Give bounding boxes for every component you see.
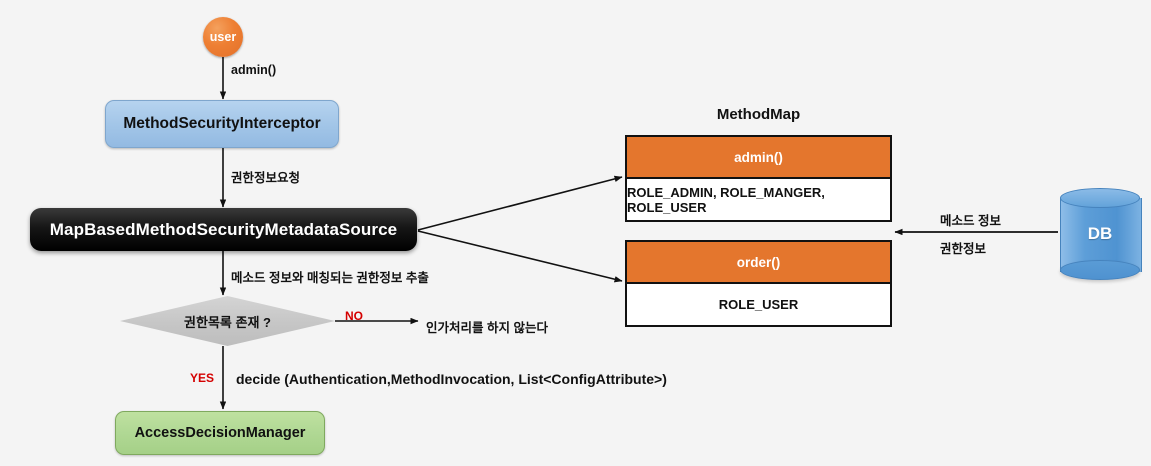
node-method-security-interceptor[interactable]: MethodSecurityInterceptor [105, 100, 339, 148]
edge-label-no: NO [345, 309, 363, 323]
edge-label-admin-call: admin() [231, 63, 276, 77]
method-map-entry-roles: ROLE_USER [627, 284, 890, 325]
actor-user[interactable]: user [203, 17, 243, 57]
method-map-entry-method: admin() [627, 137, 890, 179]
method-map-entry-method: order() [627, 242, 890, 284]
actor-user-label: user [210, 30, 236, 44]
edge-label-authority-request: 권한정보요청 [231, 167, 300, 186]
edge-label-authority-info: 권한정보 [940, 238, 986, 257]
node-decision-label: 권한목록 존재 ? [120, 296, 335, 346]
node-map-based-metadata-source[interactable]: MapBasedMethodSecurityMetadataSource [30, 208, 417, 251]
edge-label-no-result: 인가처리를 하지 않는다 [426, 317, 548, 336]
method-map-entry-roles: ROLE_ADMIN, ROLE_MANGER, ROLE_USER [627, 179, 890, 220]
method-map-entry[interactable]: order() ROLE_USER [625, 240, 892, 327]
node-decision-has-authority-list[interactable]: 권한목록 존재 ? [120, 296, 335, 346]
diagram-canvas: user admin() MethodSecurityInterceptor 권… [0, 0, 1151, 466]
node-method-security-interceptor-label: MethodSecurityInterceptor [123, 115, 320, 133]
edge-label-yes: YES [190, 371, 214, 385]
edge-label-method-info: 메소드 정보 [940, 210, 1001, 229]
method-map-title: MethodMap [625, 106, 892, 123]
edge-label-extract-authority: 메소드 정보와 매칭되는 권한정보 추출 [231, 267, 429, 286]
node-access-decision-manager[interactable]: AccessDecisionManager [115, 411, 325, 455]
edge-metadata-to-admin-entry [418, 177, 622, 230]
node-database-label: DB [1060, 188, 1140, 280]
node-map-based-metadata-source-label: MapBasedMethodSecurityMetadataSource [50, 220, 397, 240]
edge-label-decide-call: decide (Authentication,MethodInvocation,… [236, 371, 667, 387]
edge-metadata-to-order-entry [418, 231, 622, 281]
method-map-entry[interactable]: admin() ROLE_ADMIN, ROLE_MANGER, ROLE_US… [625, 135, 892, 222]
node-database[interactable]: DB [1060, 188, 1140, 280]
node-access-decision-manager-label: AccessDecisionManager [135, 425, 306, 441]
